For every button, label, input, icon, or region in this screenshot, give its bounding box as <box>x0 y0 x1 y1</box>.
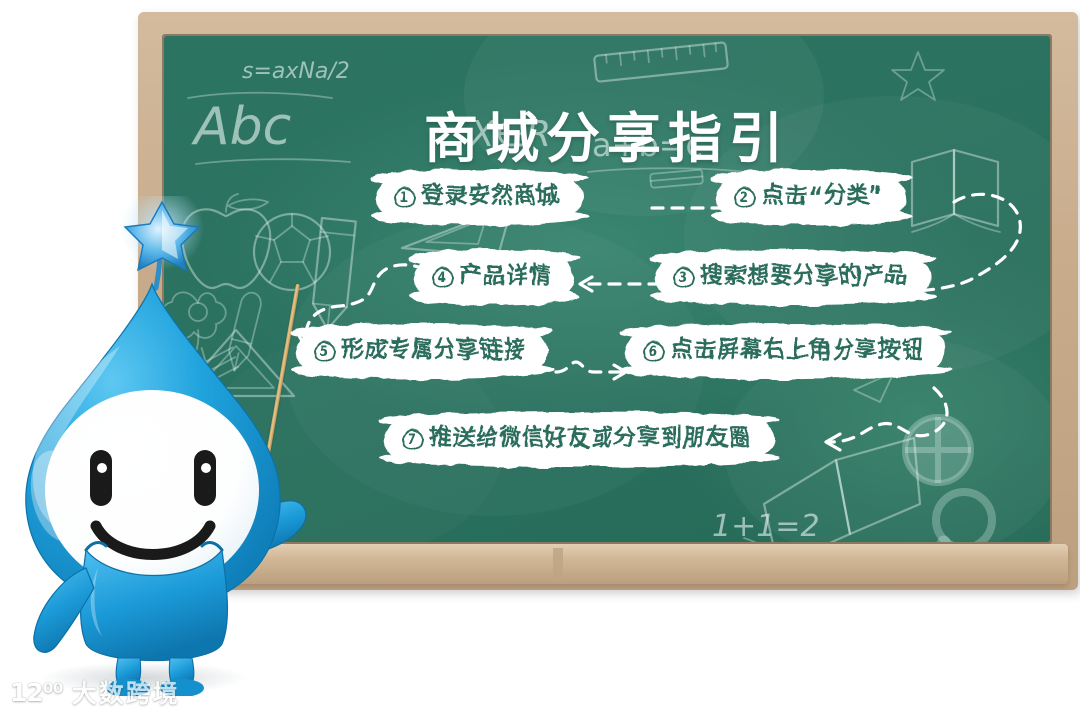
step-bubble-4[interactable]: 4 产品详情 <box>414 256 574 298</box>
chalk-formula-na: s=axNa/2 <box>242 59 350 84</box>
step-label-1: 登录安然商城 <box>422 185 560 208</box>
step-number-3: 3 <box>673 267 694 288</box>
blue-water-drop-mascot <box>0 196 324 696</box>
step-label-6: 点击屏幕右上角分享按钮 <box>671 339 924 362</box>
watermark-text: 大数跨境 <box>72 674 180 710</box>
chalk-star-icon <box>892 52 944 100</box>
step-bubble-2[interactable]: 2 点击“分类” <box>716 176 907 218</box>
step-label-3: 搜索想要分享的产品 <box>701 265 908 288</box>
chalk-open-book-large-icon <box>744 438 920 542</box>
watermark-logo-icon: 12⁰⁰ <box>10 678 63 707</box>
step-number-6: 6 <box>643 341 664 362</box>
chalk-ruler-icon <box>594 42 728 82</box>
step-label-7: 推送给微信好友或分享到朋友圈 <box>430 427 752 450</box>
step-bubble-5[interactable]: 5 形成专属分享链接 <box>296 330 548 372</box>
poster-canvas: s=axNa/2 Abc X∈R a+b=c <box>0 0 1080 720</box>
page-title: 商城分享指引 <box>164 94 1050 173</box>
connector-5-6 <box>556 362 626 379</box>
step-bubble-1[interactable]: 1 登录安然商城 <box>376 176 582 218</box>
step-label-2: 点击“分类” <box>762 185 885 208</box>
chalk-magnifier-icon <box>924 492 992 542</box>
watermark: 12⁰⁰ 大数跨境 <box>10 674 180 710</box>
step-bubble-3[interactable]: 3 搜索想要分享的产品 <box>655 256 930 298</box>
step-bubble-7[interactable]: 7 推送给微信好友或分享到朋友圈 <box>384 418 774 460</box>
step-label-5: 形成专属分享链接 <box>342 339 526 362</box>
step-number-2: 2 <box>734 187 755 208</box>
step-bubble-6[interactable]: 6 点击屏幕右上角分享按钮 <box>625 330 946 372</box>
mascot-face <box>45 390 259 590</box>
step-label-4: 产品详情 <box>460 265 552 288</box>
step-number-4: 4 <box>432 267 453 288</box>
chalk-globe-icon <box>905 417 971 483</box>
step-number-5: 5 <box>314 341 335 362</box>
step-number-1: 1 <box>394 187 415 208</box>
step-number-7: 7 <box>402 429 423 450</box>
connector-6-7 <box>826 388 947 450</box>
chalk-one-plus-one: 1+1=2 <box>712 509 820 542</box>
